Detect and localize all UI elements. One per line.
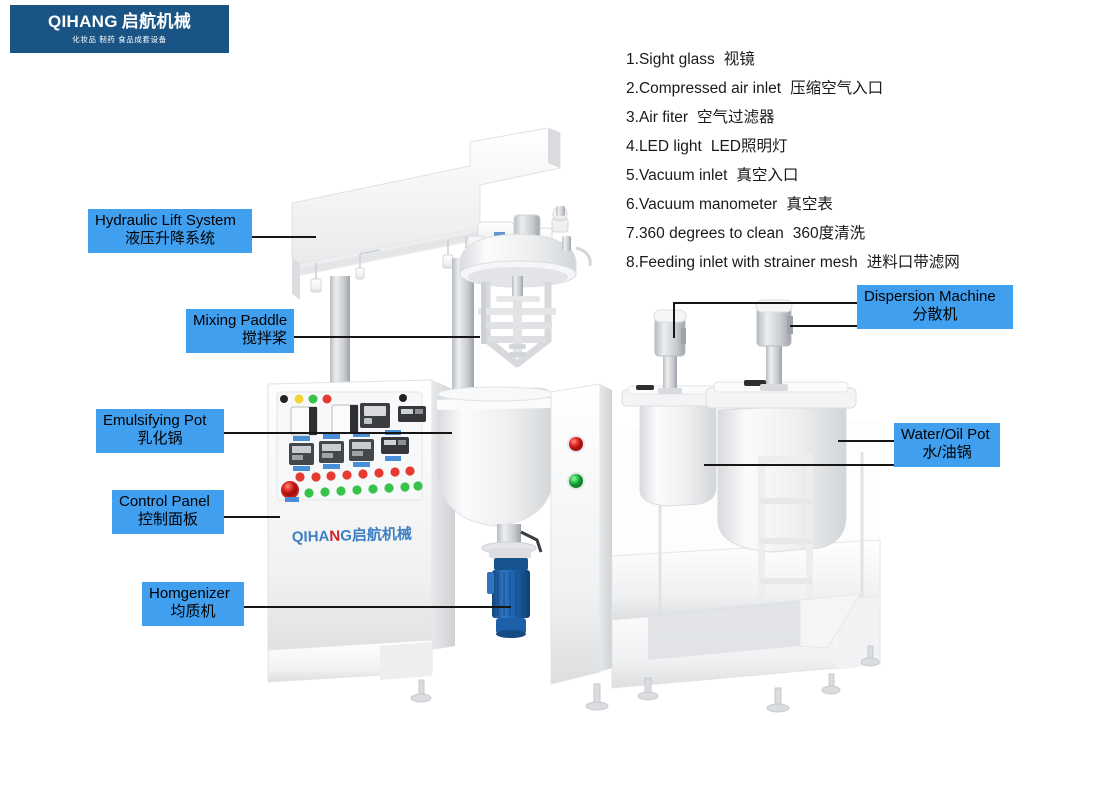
- callout-homogenizer: Homgenizer 均质机: [142, 582, 244, 626]
- homogenizer-motor: [482, 524, 541, 638]
- machine-logo-en: QIHANG启航机械: [292, 525, 412, 546]
- emulsifying-pot: [437, 387, 554, 526]
- operator-pillar: [551, 384, 612, 684]
- callout-hydraulic-lift: Hydraulic Lift System 液压升降系统: [88, 209, 252, 253]
- callout-hydraulic-lift-cn: 液压升降系统: [95, 230, 245, 248]
- legend-item: 3.Air fiter空气过滤器: [626, 110, 1106, 126]
- callout-mixing-paddle: Mixing Paddle 搅拌桨: [186, 309, 294, 353]
- callout-control-panel-cn: 控制面板: [119, 511, 217, 529]
- legend-en: LED light: [639, 138, 702, 155]
- callout-mixing-paddle-en: Mixing Paddle: [193, 312, 287, 330]
- leader-line-control-panel: [222, 516, 280, 518]
- legend-item: 7.360 degrees to clean360度清洗: [626, 226, 1106, 242]
- leader-line-hydraulic-lift: [250, 236, 316, 238]
- legend-num: 1.: [626, 51, 639, 68]
- callout-dispersion-machine: Dispersion Machine 分散机: [857, 285, 1013, 329]
- legend-item: 1.Sight glass视镜: [626, 52, 1106, 68]
- callout-mixing-paddle-cn: 搅拌桨: [193, 330, 287, 348]
- callout-water-oil-pot-cn: 水/油锅: [901, 444, 993, 462]
- callout-control-panel: Control Panel 控制面板: [112, 490, 224, 534]
- legend-en: Feeding inlet with strainer mesh: [639, 254, 858, 271]
- legend-cn: 真空表: [786, 196, 833, 213]
- legend-num: 4.: [626, 138, 639, 155]
- water-oil-tank-right: [706, 300, 856, 552]
- legend-cn: 360度清洗: [793, 225, 865, 242]
- leader-line-dispersion-1: [674, 302, 858, 304]
- callout-homogenizer-en: Homgenizer: [149, 585, 237, 603]
- leader-line-water-oil-2: [704, 464, 896, 466]
- legend-en: Vacuum inlet: [639, 167, 727, 184]
- leader-line-dispersion-1-drop: [673, 302, 675, 338]
- legend-cn: 空气过滤器: [697, 109, 775, 126]
- legend-en: 360 degrees to clean: [639, 225, 784, 242]
- callout-control-panel-en: Control Panel: [119, 493, 217, 511]
- legend-en: Vacuum manometer: [639, 196, 777, 213]
- legend-num: 8.: [626, 254, 639, 271]
- leader-line-water-oil-1: [838, 440, 896, 442]
- mixing-paddle-assembly: [478, 276, 556, 364]
- run-indicator: [569, 474, 583, 488]
- legend-en: Compressed air inlet: [639, 80, 781, 97]
- legend-item: 2.Compressed air inlet压缩空气入口: [626, 81, 1106, 97]
- legend-item: 5.Vacuum inlet真空入口: [626, 168, 1106, 184]
- legend-item: 6.Vacuum manometer真空表: [626, 197, 1106, 213]
- legend-num: 6.: [626, 196, 639, 213]
- legend-cn: 压缩空气入口: [790, 80, 883, 97]
- leader-line-homogenizer: [243, 606, 511, 608]
- legend-item: 4.LED lightLED照明灯: [626, 139, 1106, 155]
- callout-emulsifying-pot-en: Emulsifying Pot: [103, 412, 217, 430]
- legend-num: 2.: [626, 80, 639, 97]
- legend-cn: 进料口带滤网: [867, 254, 960, 271]
- callout-hydraulic-lift-en: Hydraulic Lift System: [95, 212, 245, 230]
- numbered-legend: 1.Sight glass视镜 2.Compressed air inlet压缩…: [626, 52, 1106, 284]
- callout-emulsifying-pot-cn: 乳化锅: [103, 430, 217, 448]
- legend-cn: LED照明灯: [711, 138, 788, 155]
- callout-dispersion-machine-cn: 分散机: [864, 306, 1006, 324]
- legend-num: 7.: [626, 225, 639, 242]
- callout-water-oil-pot: Water/Oil Pot 水/油锅: [894, 423, 1000, 467]
- leader-line-emulsifying-pot: [222, 432, 452, 434]
- callout-dispersion-machine-en: Dispersion Machine: [864, 288, 1006, 306]
- legend-num: 5.: [626, 167, 639, 184]
- legend-item: 8.Feeding inlet with strainer mesh进料口带滤网: [626, 255, 1106, 271]
- legend-en: Air fiter: [639, 109, 688, 126]
- machine-body-logo: QIHANG启航机械: [292, 525, 412, 546]
- leader-line-dispersion-2: [790, 325, 858, 327]
- callout-emulsifying-pot: Emulsifying Pot 乳化锅: [96, 409, 224, 453]
- legend-cn: 视镜: [724, 51, 755, 68]
- legend-en: Sight glass: [639, 51, 715, 68]
- callout-water-oil-pot-en: Water/Oil Pot: [901, 426, 993, 444]
- legend-num: 3.: [626, 109, 639, 126]
- leader-line-mixing-paddle: [292, 336, 480, 338]
- callout-homogenizer-cn: 均质机: [149, 603, 237, 621]
- stop-indicator: [569, 437, 583, 451]
- legend-cn: 真空入口: [736, 167, 798, 184]
